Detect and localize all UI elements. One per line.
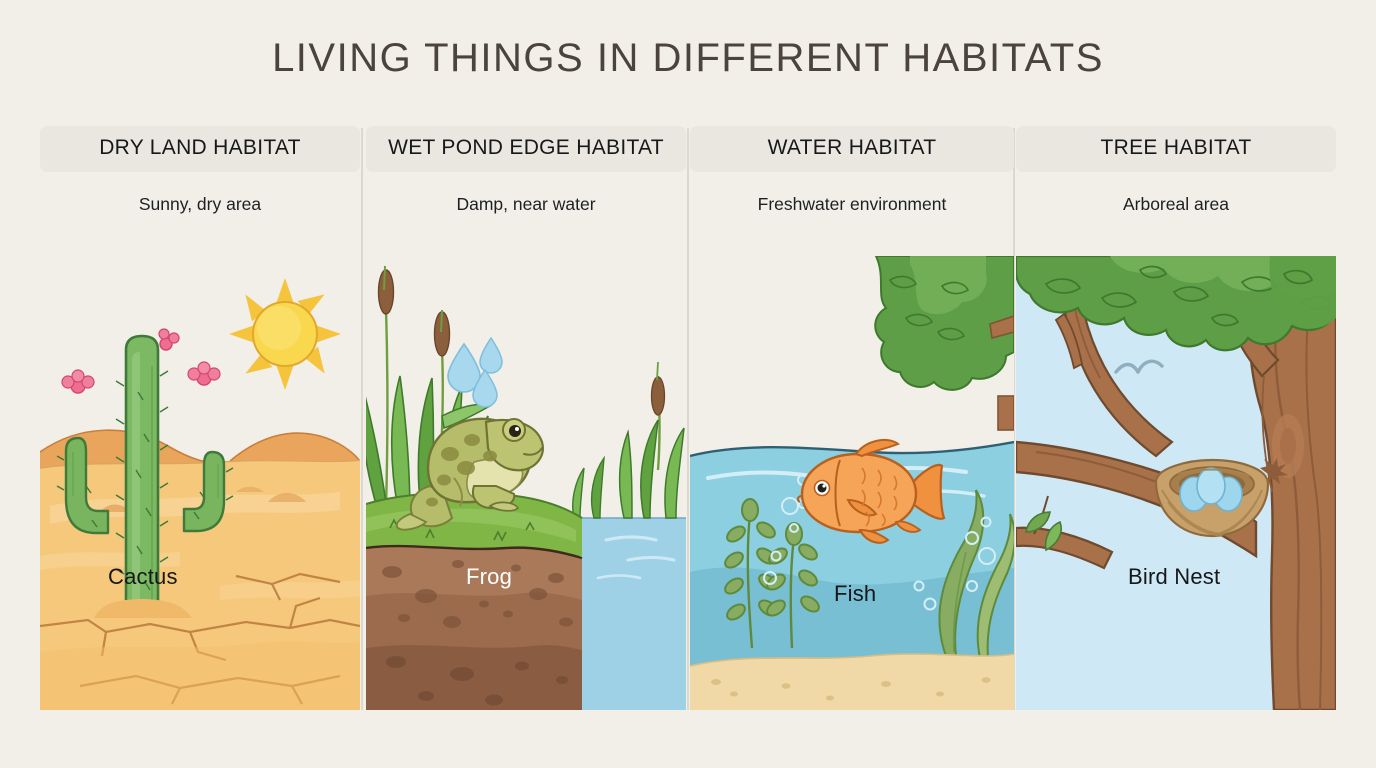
habitat-title: WET POND EDGE HABITAT	[370, 135, 682, 162]
caption-frog: Frog	[466, 564, 512, 590]
panel-tree-header: TREE HABITAT Arboreal area	[1016, 126, 1336, 215]
panel-dry-land-header: DRY LAND HABITAT Sunny, dry area	[40, 126, 360, 215]
habitat-title: DRY LAND HABITAT	[44, 135, 356, 162]
caption-bird-nest: Bird Nest	[1128, 564, 1220, 590]
pond-water	[582, 518, 686, 710]
habitat-subtitle: Freshwater environment	[690, 194, 1014, 215]
page-title: LIVING THINGS IN DIFFERENT HABITATS	[0, 36, 1376, 81]
habitat-title: WATER HABITAT	[694, 135, 1010, 162]
panel-divider-2	[687, 128, 689, 710]
panel-wet-pond-header: WET POND EDGE HABITAT Damp, near water	[366, 126, 686, 215]
caption-fish: Fish	[834, 581, 876, 607]
panel-water-header: WATER HABITAT Freshwater environment	[690, 126, 1014, 215]
sun-icon	[229, 278, 341, 390]
habitat-title-chip: DRY LAND HABITAT	[40, 126, 360, 172]
water-illustration: Fish	[690, 256, 1014, 710]
habitat-subtitle: Sunny, dry area	[40, 194, 360, 215]
sandy-bottom	[690, 654, 1014, 710]
habitat-title-chip: WATER HABITAT	[690, 126, 1014, 172]
habitat-subtitle: Damp, near water	[366, 194, 686, 215]
caption-cactus: Cactus	[108, 564, 178, 590]
habitat-subtitle: Arboreal area	[1016, 194, 1336, 215]
tree-illustration: Bird Nest	[1016, 256, 1336, 710]
wet-pond-illustration: Frog	[366, 256, 686, 710]
habitats-poster: LIVING THINGS IN DIFFERENT HABITATS DRY …	[0, 0, 1376, 768]
habitat-title-chip: TREE HABITAT	[1016, 126, 1336, 172]
panel-divider-1	[361, 128, 363, 710]
sand-floor	[40, 460, 360, 710]
dry-land-illustration: Cactus	[40, 256, 360, 710]
habitat-title-chip: WET POND EDGE HABITAT	[366, 126, 686, 172]
habitat-title: TREE HABITAT	[1020, 135, 1332, 162]
